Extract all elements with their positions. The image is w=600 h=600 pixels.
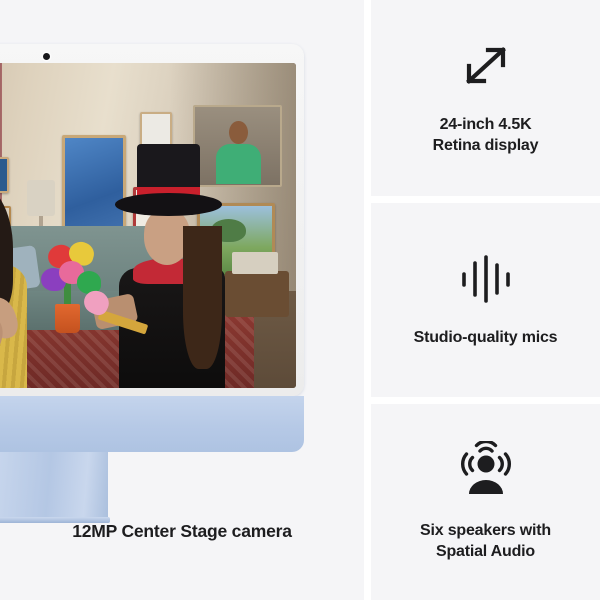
- imac-chin: [0, 396, 304, 452]
- imac-bezel: [0, 44, 304, 396]
- girl-hair-front: [183, 226, 222, 369]
- top-hat-brim: [115, 193, 221, 216]
- center-stage-camera-icon: [43, 53, 50, 60]
- imac-screen: [0, 63, 296, 388]
- participant-body: [216, 144, 262, 184]
- imac-device: [0, 44, 304, 484]
- feature-card-mics-label: Studio-quality mics: [400, 328, 572, 349]
- small-wall-art-1: [0, 157, 9, 193]
- floor-lamp-shade: [27, 180, 55, 216]
- speakers-label-line-1: Six speakers with: [420, 522, 551, 539]
- video-call-participant-tile: [193, 105, 282, 186]
- video-call-scene: [0, 63, 296, 388]
- vintage-radio: [232, 252, 278, 275]
- mics-label-line-1: Studio-quality mics: [414, 329, 558, 346]
- display-label-line-1: 24-inch 4.5K: [440, 116, 532, 133]
- camera-feature-panel: 12MP Center Stage camera: [0, 0, 364, 600]
- feature-card-display-label: 24-inch 4.5K Retina display: [419, 115, 553, 157]
- display-label-line-2: Retina display: [433, 137, 539, 154]
- spatial-audio-person-icon: [455, 441, 517, 499]
- participant-head: [229, 121, 248, 144]
- feature-card-speakers[interactable]: Six speakers with Spatial Audio: [371, 404, 600, 600]
- feature-card-display[interactable]: 24-inch 4.5K Retina display: [371, 0, 600, 196]
- side-table: [225, 271, 289, 317]
- feature-card-speakers-label: Six speakers with Spatial Audio: [406, 521, 565, 563]
- flower-pot: [55, 304, 80, 333]
- expand-diagonal-arrows-icon: [457, 39, 515, 93]
- imac-stand-neck: [0, 452, 108, 522]
- speakers-label-line-2: Spatial Audio: [436, 543, 535, 560]
- soundwave-icon: [459, 252, 513, 306]
- feature-card-mics[interactable]: Studio-quality mics: [371, 203, 600, 397]
- camera-feature-caption: 12MP Center Stage camera: [0, 520, 364, 543]
- feature-grid-page: 12MP Center Stage camera 24-inch 4.5K Re…: [0, 0, 600, 600]
- imac-display-frame: [0, 44, 304, 396]
